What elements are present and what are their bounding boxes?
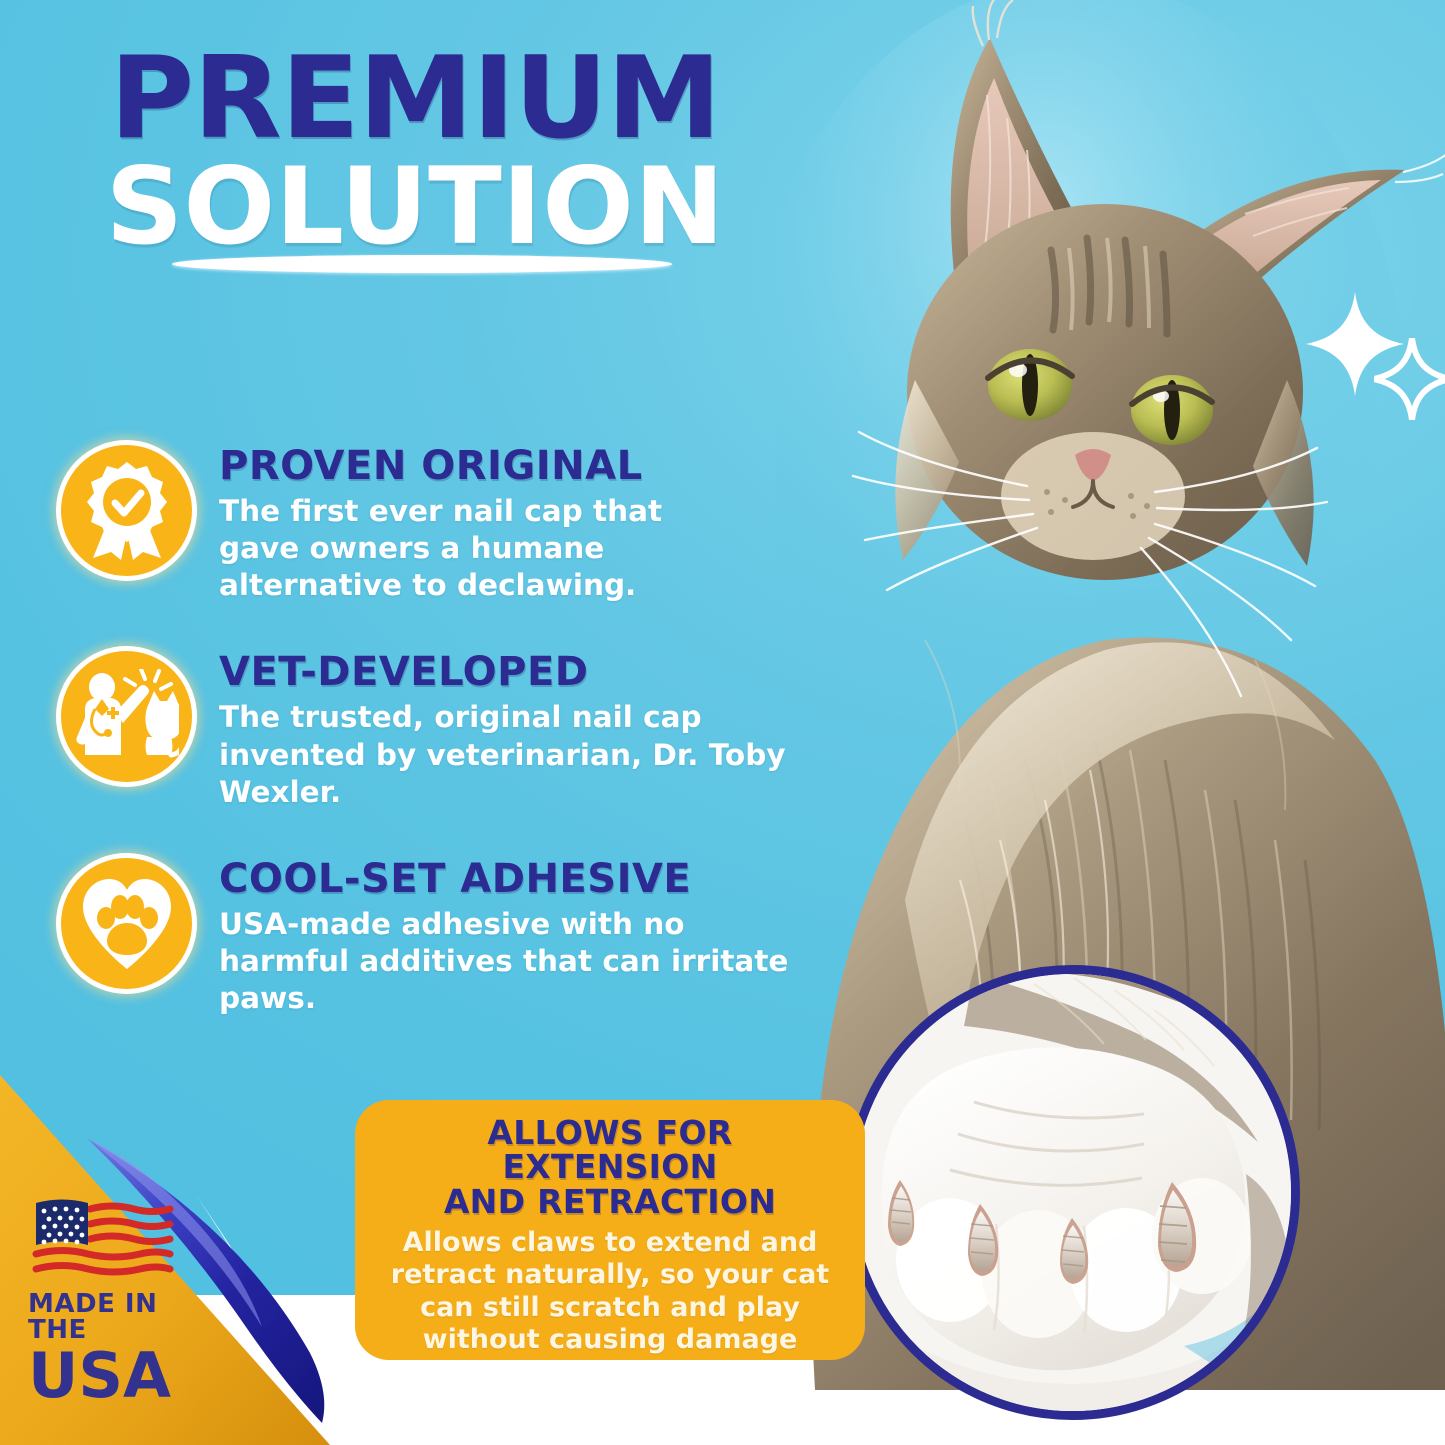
feature-description: USA-made adhesive with no harmful additi…: [219, 906, 789, 1017]
feature-heading: VET-DEVELOPED: [219, 652, 836, 692]
heart-paw-icon: [56, 853, 197, 994]
veterinarian-cat-highfive-icon: [56, 646, 197, 787]
callout-body: Allows claws to extend and retract natur…: [377, 1227, 843, 1357]
feature-heading: PROVEN ORIGINAL: [219, 446, 836, 486]
feature-item-cool-set-adhesive: COOL-SET ADHESIVE USA-made adhesive with…: [56, 853, 836, 1017]
title-line-solution: SOLUTION: [0, 157, 838, 258]
feature-badge: [56, 853, 197, 994]
extension-retraction-callout: ALLOWS FOR EXTENSION AND RETRACTION Allo…: [355, 1100, 865, 1360]
feature-text: COOL-SET ADHESIVE USA-made adhesive with…: [219, 853, 836, 1017]
callout-title: ALLOWS FOR EXTENSION AND RETRACTION: [377, 1116, 843, 1219]
feature-heading: COOL-SET ADHESIVE: [219, 859, 836, 899]
usa-flag-icon: [28, 1197, 176, 1283]
feature-text: PROVEN ORIGINAL The first ever nail cap …: [219, 440, 836, 604]
callout-title-line2: AND RETRACTION: [377, 1185, 843, 1219]
product-infographic-poster: PREMIUM SOLUTION PROVEN ORIGINAL: [0, 0, 1445, 1445]
feature-description: The trusted, original nail cap invented …: [219, 699, 804, 810]
title-line-premium: PREMIUM: [0, 46, 838, 151]
sparkle-outline-icon: [1374, 338, 1445, 420]
feature-item-proven-original: PROVEN ORIGINAL The first ever nail cap …: [56, 440, 836, 604]
usa-badge-line1: MADE IN THE: [28, 1291, 203, 1343]
feature-item-vet-developed: VET-DEVELOPED The trusted, original nail…: [56, 646, 836, 810]
feature-badge: [56, 440, 197, 581]
award-ribbon-check-icon: [56, 440, 197, 581]
callout-title-line1: ALLOWS FOR EXTENSION: [377, 1116, 843, 1185]
title-block: PREMIUM SOLUTION: [0, 46, 830, 258]
cat-paw-closeup-inset: [845, 965, 1300, 1420]
usa-badge-line2: USA: [28, 1345, 203, 1407]
title-divider: [172, 255, 672, 273]
feature-badge: [56, 646, 197, 787]
feature-list: PROVEN ORIGINAL The first ever nail cap …: [56, 440, 836, 1059]
feature-description: The first ever nail cap that gave owners…: [219, 493, 719, 604]
made-in-usa-badge: MADE IN THE USA: [28, 1197, 203, 1407]
feature-text: VET-DEVELOPED The trusted, original nail…: [219, 646, 836, 810]
